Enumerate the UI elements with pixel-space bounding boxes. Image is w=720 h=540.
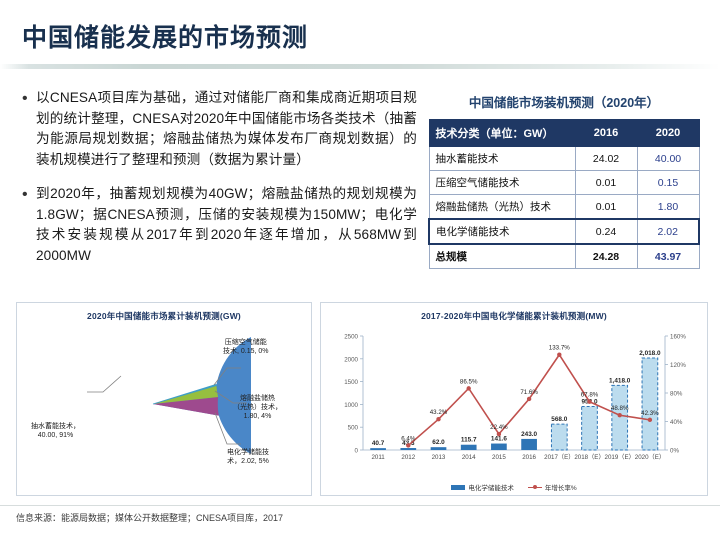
line-value-label: 48.8%: [611, 405, 629, 412]
table-header-row: 技术分类（单位：GW） 2016 2020: [429, 120, 699, 147]
line-value-label: 43.2%: [430, 409, 448, 416]
table-row: 压缩空气储能技术 0.01 0.15: [429, 171, 699, 195]
bullet-marker-icon: •: [22, 184, 36, 266]
pie-label-molten-salt: 熔融盐储热 （光热）技术， 1.80, 4%: [233, 394, 282, 421]
line-data-point: [467, 386, 471, 390]
line-data-point: [618, 413, 622, 417]
x-axis-tick-label: 2014: [462, 454, 476, 461]
cell-2016: 24.28: [575, 244, 637, 269]
y2-axis-tick-label: 160%: [670, 334, 686, 341]
bar-2017E: [551, 424, 567, 450]
line-value-label: 22.4%: [490, 424, 508, 431]
legend-label-growth-rate: 年增长率%: [545, 482, 577, 492]
table-header-category: 技术分类（单位：GW）: [429, 120, 575, 147]
forecast-table-container: 中国储能市场装机预测（2020年） 技术分类（单位：GW） 2016 2020 …: [428, 92, 700, 269]
bar-2012: [400, 448, 416, 450]
bar-2013: [431, 447, 447, 450]
table-header-2020: 2020: [637, 120, 699, 147]
bullet-list: • 以CNESA项目库为基础，通过对储能厂商和集成商近期项目规划的统计整理，CN…: [22, 88, 417, 280]
legend-bar-swatch-icon: [451, 485, 465, 490]
table-title: 中国储能市场装机预测（2020年）: [428, 92, 700, 111]
bar-2020E: [642, 358, 658, 450]
table-row: 熔融盐储热（光热）技术 0.01 1.80: [429, 195, 699, 220]
y-axis-tick-label: 500: [348, 425, 359, 432]
title-divider: [0, 64, 720, 69]
bar-value-label: 568.0: [551, 416, 567, 423]
bar-value-label: 1,418.0: [609, 377, 631, 384]
bar-chart-svg: 050010001500200025000%40%80%120%160%40.7…: [321, 322, 707, 494]
pie-label-molten-salt-name: 熔融盐储热: [240, 395, 275, 402]
bar-2014: [461, 445, 477, 450]
y2-axis-tick-label: 80%: [670, 391, 683, 398]
cell-2016: 0.01: [575, 171, 637, 195]
cell-2020: 2.02: [637, 219, 699, 244]
line-data-point: [648, 418, 652, 422]
cell-2016: 24.02: [575, 147, 637, 171]
cell-category: 熔融盐储热（光热）技术: [429, 195, 575, 220]
x-axis-tick-label: 2018（E）: [574, 454, 604, 461]
bar-value-label: 115.7: [461, 437, 477, 444]
table-row-highlighted: 电化学储能技术 0.24 2.02: [429, 219, 699, 244]
y2-axis-tick-label: 40%: [670, 419, 683, 426]
x-axis-tick-label: 2012: [401, 454, 415, 461]
pie-chart-container: 2020年中国储能市场累计装机预测(GW) 压缩空气储能 技术, 0.15, 0…: [16, 302, 312, 496]
pie-label-compressed-air: 压缩空气储能 技术, 0.15, 0%: [223, 338, 269, 356]
pie-label-electrochemical: 电化学储能技 术，2.02, 5%: [227, 448, 269, 466]
cell-2020: 43.97: [637, 244, 699, 269]
line-data-point: [587, 399, 591, 403]
bullet-marker-icon: •: [22, 88, 36, 170]
pie-chart-plot: 压缩空气储能 技术, 0.15, 0% 熔融盐储热 （光热）技术， 1.80, …: [17, 322, 311, 490]
line-value-label: 42.3%: [641, 410, 659, 417]
pie-label-compressed-air-value: 技术, 0.15, 0%: [223, 348, 269, 355]
pie-label-electrochemical-value: 术，2.02, 5%: [227, 458, 269, 465]
cell-category: 电化学储能技术: [429, 219, 575, 244]
bar-value-label: 2,018.0: [639, 350, 661, 357]
bullet-text: 到2020年，抽蓄规划规模为40GW；熔融盐储热的规划规模为1.8GW；据CNE…: [36, 184, 417, 266]
table-row-total: 总规模 24.28 43.97: [429, 244, 699, 269]
cell-2020: 1.80: [637, 195, 699, 220]
x-axis-tick-label: 2011: [371, 454, 385, 461]
y-axis-tick-label: 2000: [344, 356, 358, 363]
pie-label-electrochemical-name: 电化学储能技: [227, 449, 269, 456]
page-title: 中国储能发展的市场预测: [22, 18, 308, 54]
y-axis-tick-label: 0: [355, 448, 359, 455]
cell-2020: 0.15: [637, 171, 699, 195]
x-axis-tick-label: 2015: [492, 454, 506, 461]
list-item: • 以CNESA项目库为基础，通过对储能厂商和集成商近期项目规划的统计整理，CN…: [22, 88, 417, 170]
x-axis-tick-label: 2013: [432, 454, 446, 461]
bar-chart-title: 2017-2020年中国电化学储能累计装机预测(MW): [321, 303, 707, 322]
table-row: 抽水蓄能技术 24.02 40.00: [429, 147, 699, 171]
bar-value-label: 141.6: [491, 436, 507, 443]
x-axis-tick-label: 2019（E）: [605, 454, 635, 461]
legend-item-electrochemical: 电化学储能技术: [451, 482, 514, 492]
pie-label-pumped-hydro-name: 抽水蓄能技术，: [31, 423, 80, 430]
bar-chart-legend: 电化学储能技术 年增长率%: [321, 482, 707, 492]
bar-chart-plot: 050010001500200025000%40%80%120%160%40.7…: [321, 322, 707, 494]
cell-category: 压缩空气储能技术: [429, 171, 575, 195]
line-value-label: 133.7%: [549, 345, 570, 352]
bullet-text: 以CNESA项目库为基础，通过对储能厂商和集成商近期项目规划的统计整理，CNES…: [36, 88, 417, 170]
list-item: • 到2020年，抽蓄规划规模为40GW；熔融盐储热的规划规模为1.8GW；据C…: [22, 184, 417, 266]
pie-label-pumped-hydro: 抽水蓄能技术， 40.00, 91%: [31, 422, 80, 440]
x-axis-tick-label: 2017（E）: [544, 454, 574, 461]
y-axis-tick-label: 1500: [344, 379, 358, 386]
pie-leader-line-pumped-hydro: [87, 376, 121, 392]
line-value-label: 67.8%: [581, 392, 599, 399]
forecast-table: 技术分类（单位：GW） 2016 2020 抽水蓄能技术 24.02 40.00…: [428, 119, 700, 269]
line-data-point: [527, 397, 531, 401]
x-axis-tick-label: 2016: [522, 454, 536, 461]
pie-label-pumped-hydro-value: 40.00, 91%: [38, 432, 73, 439]
legend-label-electrochemical: 电化学储能技术: [468, 482, 514, 492]
pie-chart-title: 2020年中国储能市场累计装机预测(GW): [17, 303, 311, 322]
cell-category: 抽水蓄能技术: [429, 147, 575, 171]
y2-axis-tick-label: 120%: [670, 362, 686, 369]
line-data-point: [436, 417, 440, 421]
line-data-point: [497, 432, 501, 436]
y2-axis-tick-label: 0%: [670, 448, 679, 455]
line-value-label: 71.6%: [520, 389, 538, 396]
source-note: 信息来源：能源局数据；媒体公开数据整理；CNESA项目库，2017: [16, 511, 283, 524]
line-data-point: [406, 443, 410, 447]
x-axis-tick-label: 2020（E）: [635, 454, 665, 461]
cell-2016: 0.24: [575, 219, 637, 244]
y-axis-tick-label: 2500: [344, 334, 358, 341]
bar-2016: [521, 439, 537, 450]
bar-chart-container: 2017-2020年中国电化学储能累计装机预测(MW) 050010001500…: [320, 302, 708, 496]
line-value-label: 86.5%: [460, 378, 478, 385]
pie-label-molten-salt-value: 1.80, 4%: [244, 413, 272, 420]
bar-value-label: 243.0: [521, 431, 537, 438]
table-header-2016: 2016: [575, 120, 637, 147]
bar-2011: [370, 448, 386, 450]
y-axis-tick-label: 1000: [344, 402, 358, 409]
legend-item-growth-rate: 年增长率%: [528, 482, 577, 492]
legend-line-swatch-icon: [528, 484, 542, 491]
footer-divider: [0, 505, 720, 506]
cell-2016: 0.01: [575, 195, 637, 220]
line-value-label: 6.4%: [401, 435, 416, 442]
bar-2018E: [582, 407, 598, 450]
bar-value-label: 40.7: [372, 440, 385, 447]
line-data-point: [557, 353, 561, 357]
bar-2019E: [612, 385, 628, 450]
cell-category: 总规模: [429, 244, 575, 269]
pie-label-compressed-air-name: 压缩空气储能: [225, 339, 267, 346]
cell-2020: 40.00: [637, 147, 699, 171]
pie-label-molten-salt-sub: （光热）技术，: [233, 404, 282, 411]
bar-2015: [491, 444, 507, 450]
bar-value-label: 62.0: [432, 439, 445, 446]
